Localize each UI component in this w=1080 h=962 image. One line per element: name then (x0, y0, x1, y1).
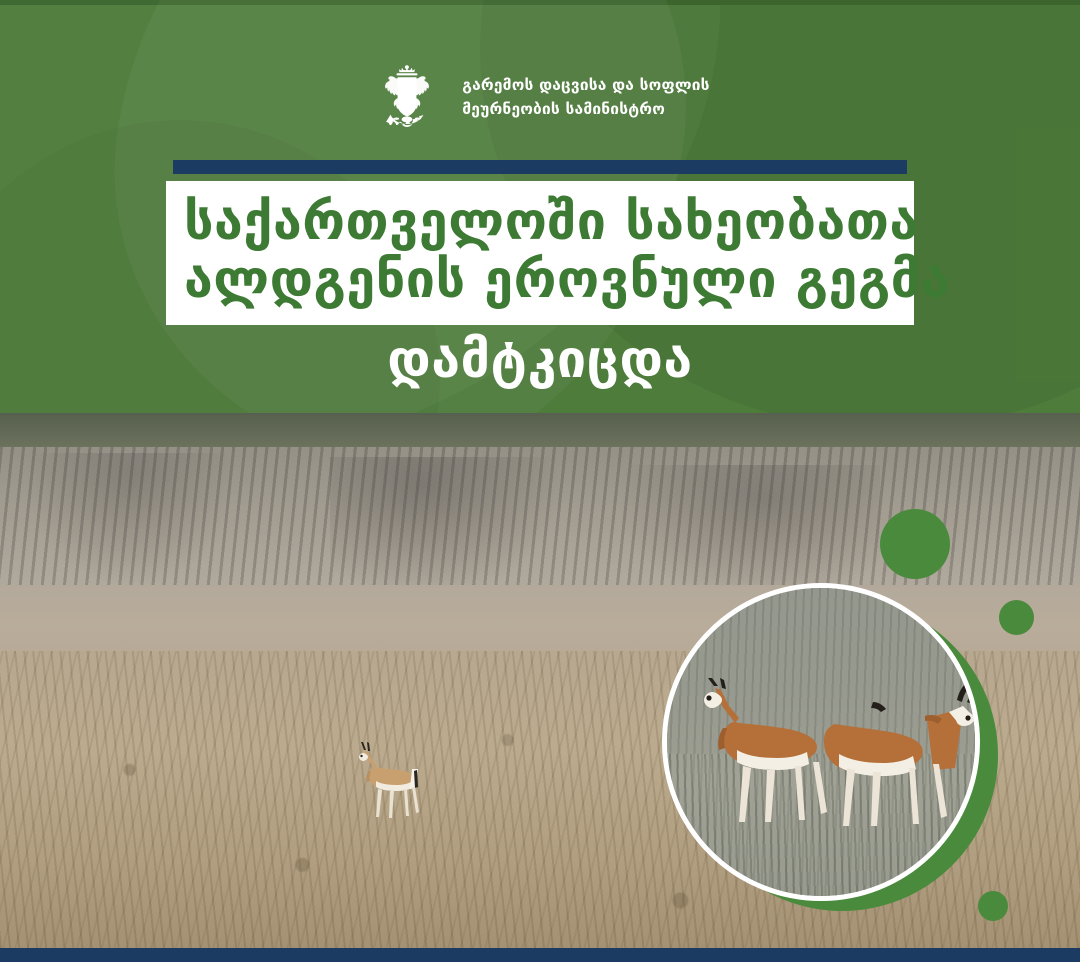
georgia-coat-of-arms-icon (370, 62, 444, 134)
navy-accent-bar (173, 160, 907, 174)
title-line-3: დამტკიცდა (0, 333, 1080, 388)
poster-root: გარემოს დაცვისა და სოფლის მეურნეობის სამ… (0, 0, 1080, 962)
gazelle-icon-inset-right (817, 672, 980, 828)
inset-photo-circle (662, 583, 980, 901)
green-circle-medium (999, 600, 1034, 635)
ministry-name-line2: მეურნეობის სამინისტრო (462, 98, 709, 122)
title-line-1: საქართველოში სახეობათა (184, 193, 896, 251)
title-line-2: ალდგენის ეროვნული გეგმა (184, 251, 896, 309)
gazelle-icon-lone (352, 741, 448, 827)
title-card: საქართველოში სახეობათა ალდგენის ეროვნული… (166, 181, 914, 325)
main-photo (0, 413, 1080, 948)
ridge-shadow-c (30, 453, 230, 583)
navy-footer-bar (0, 948, 1080, 962)
ministry-name: გარემოს დაცვისა და სოფლის მეურნეობის სამ… (462, 74, 709, 121)
ministry-lockup: გარემოს დაცვისა და სოფლის მეურნეობის სამ… (0, 62, 1080, 134)
green-circle-large (880, 509, 950, 579)
ministry-name-line1: გარემოს დაცვისა და სოფლის (462, 74, 709, 98)
green-circle-small (978, 891, 1008, 921)
ridge-shadow-a (330, 457, 560, 597)
